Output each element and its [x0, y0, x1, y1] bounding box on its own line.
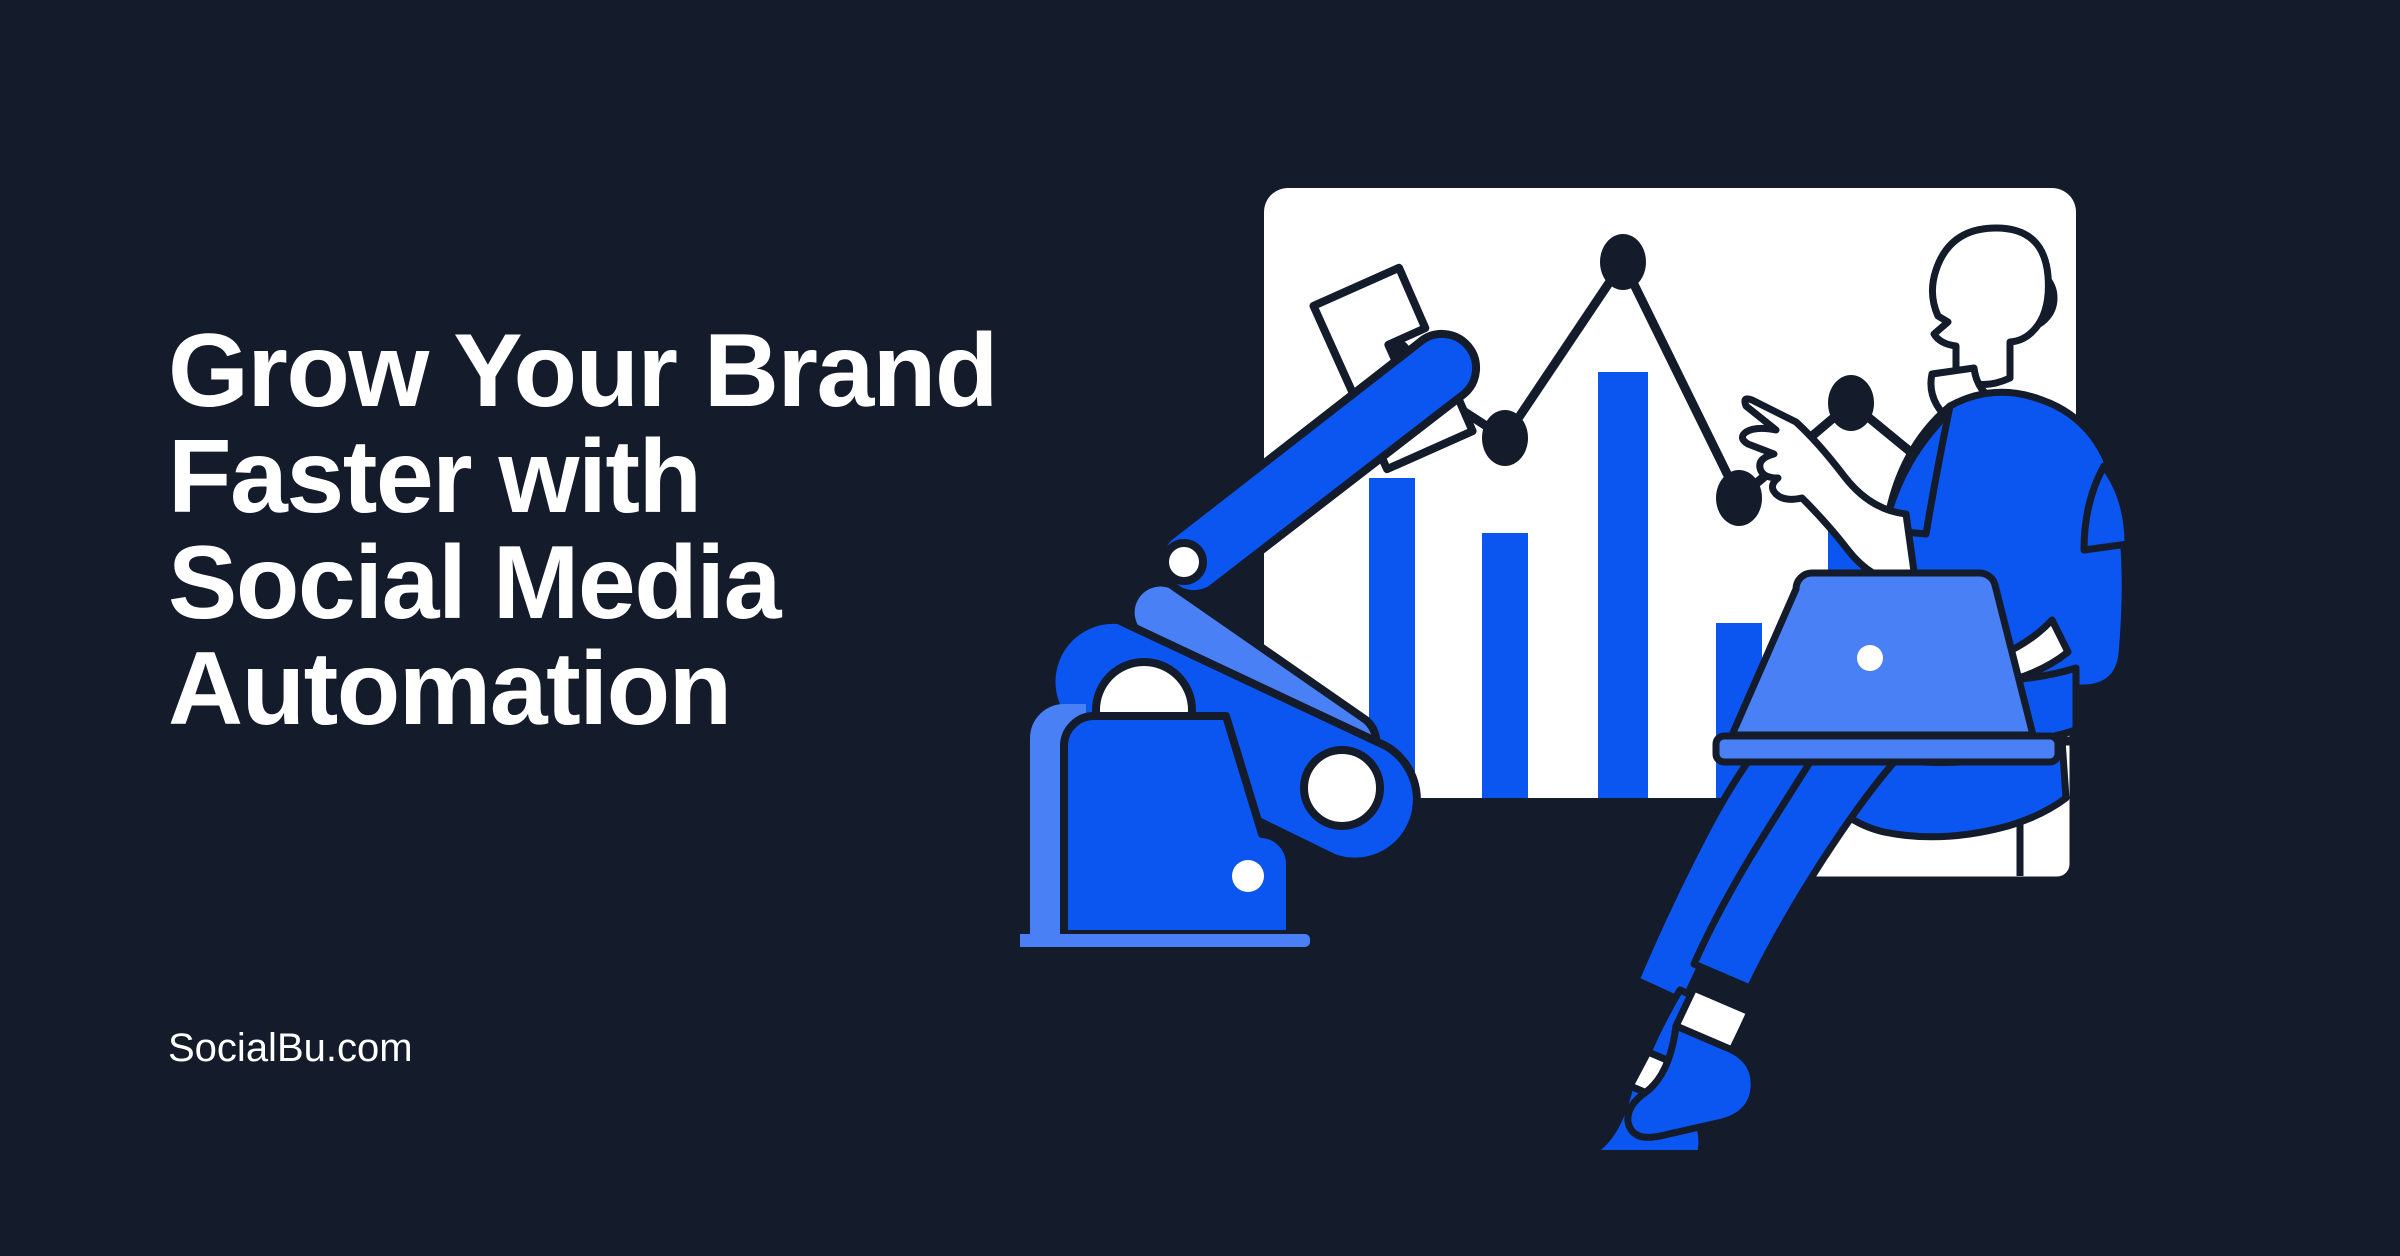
robot-base-rail [1020, 934, 1310, 947]
robot-joint-upper [1165, 543, 1203, 581]
robot-joint-mid [1304, 750, 1380, 826]
bar-2 [1482, 533, 1528, 798]
brand-wordmark: SocialBu.com [168, 1028, 413, 1068]
page-title: Grow Your Brand Faster with Social Media… [168, 318, 1148, 742]
illustration-svg [1020, 150, 2140, 1150]
illustration [1020, 150, 2140, 1150]
laptop-base [1716, 736, 2058, 762]
line-marker-2 [1482, 410, 1528, 466]
line-marker-3 [1600, 234, 1646, 290]
line-marker-5 [1828, 375, 1874, 431]
bar-3 [1598, 372, 1648, 798]
hero-copy: Grow Your Brand Faster with Social Media… [168, 318, 1148, 742]
laptop-camera-dot [1857, 645, 1883, 671]
hero-banner: Grow Your Brand Faster with Social Media… [0, 0, 2400, 1256]
robot-base-dot [1232, 860, 1264, 892]
line-marker-4 [1716, 470, 1762, 526]
